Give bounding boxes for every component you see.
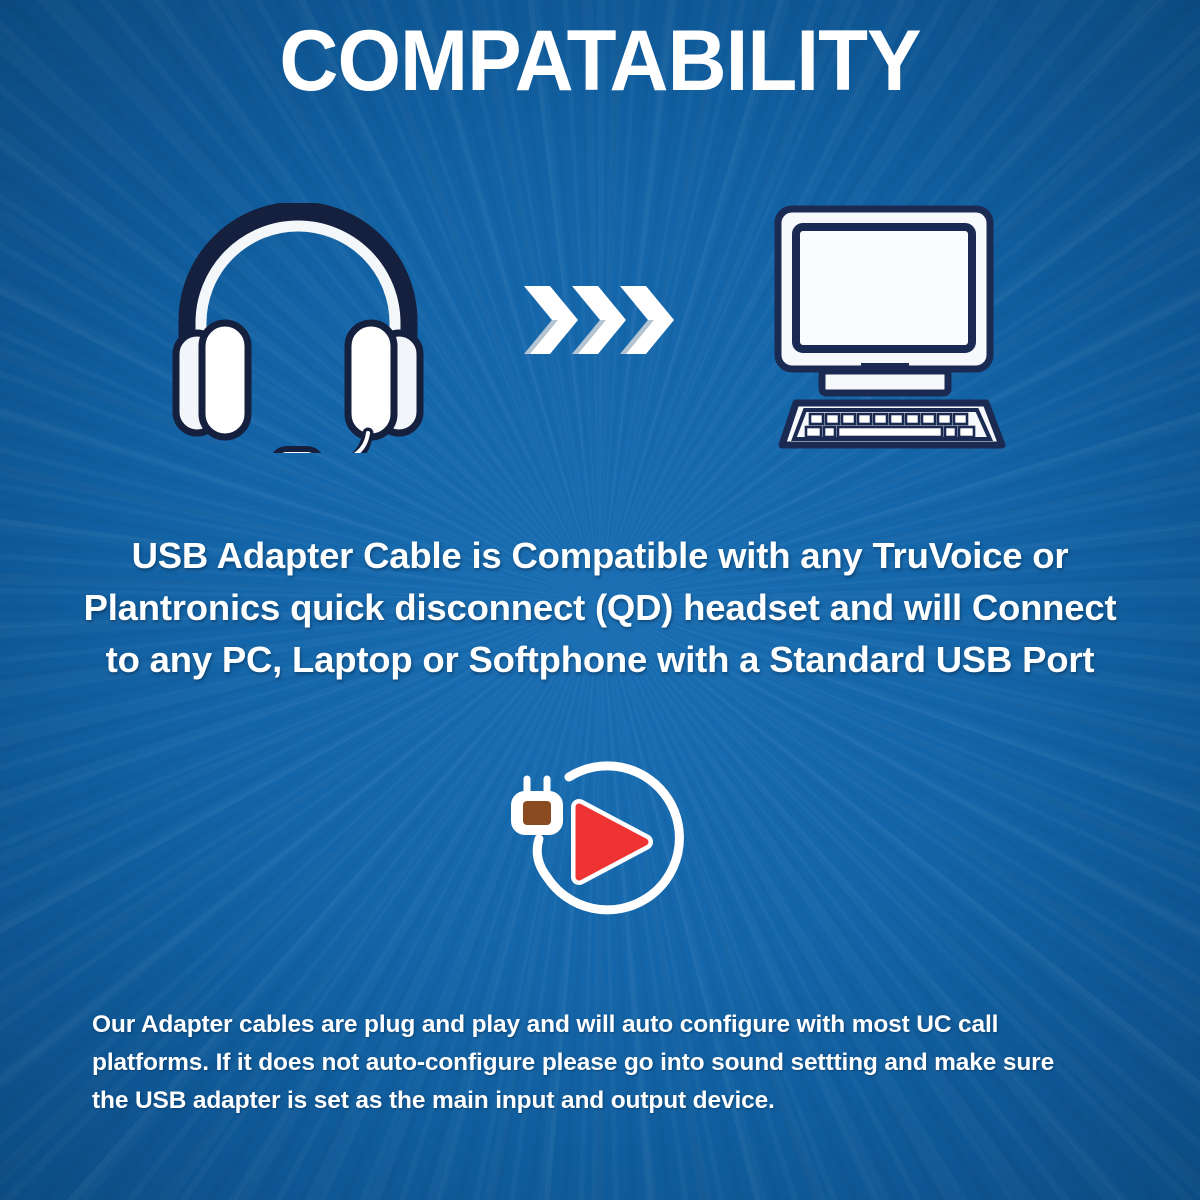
footer-note: Our Adapter cables are plug and play and… [92,1006,1132,1120]
main-description: USB Adapter Cable is Compatible with any… [60,530,1140,686]
qd-headset-icon [168,203,428,453]
footer-note-line-2: platforms. If it does not auto-configure… [92,1044,1132,1082]
page-title: COMPATABILITY [30,18,1170,104]
footer-note-line-3: the USB adapter is set as the main input… [92,1082,1132,1120]
plug-and-play-icon [505,755,705,930]
main-description-line-3: to any PC, Laptop or Softphone with a St… [60,634,1140,686]
triple-chevron-right-icon [520,280,680,360]
main-description-line-1: USB Adapter Cable is Compatible with any… [60,530,1140,582]
main-description-line-2: Plantronics quick disconnect (QD) headse… [60,582,1140,634]
compatibility-icon-row [0,195,1200,465]
product-infographic: COMPATABILITY [0,0,1200,1200]
footer-note-line-1: Our Adapter cables are plug and play and… [92,1006,1132,1044]
desktop-computer-icon [760,195,1020,455]
